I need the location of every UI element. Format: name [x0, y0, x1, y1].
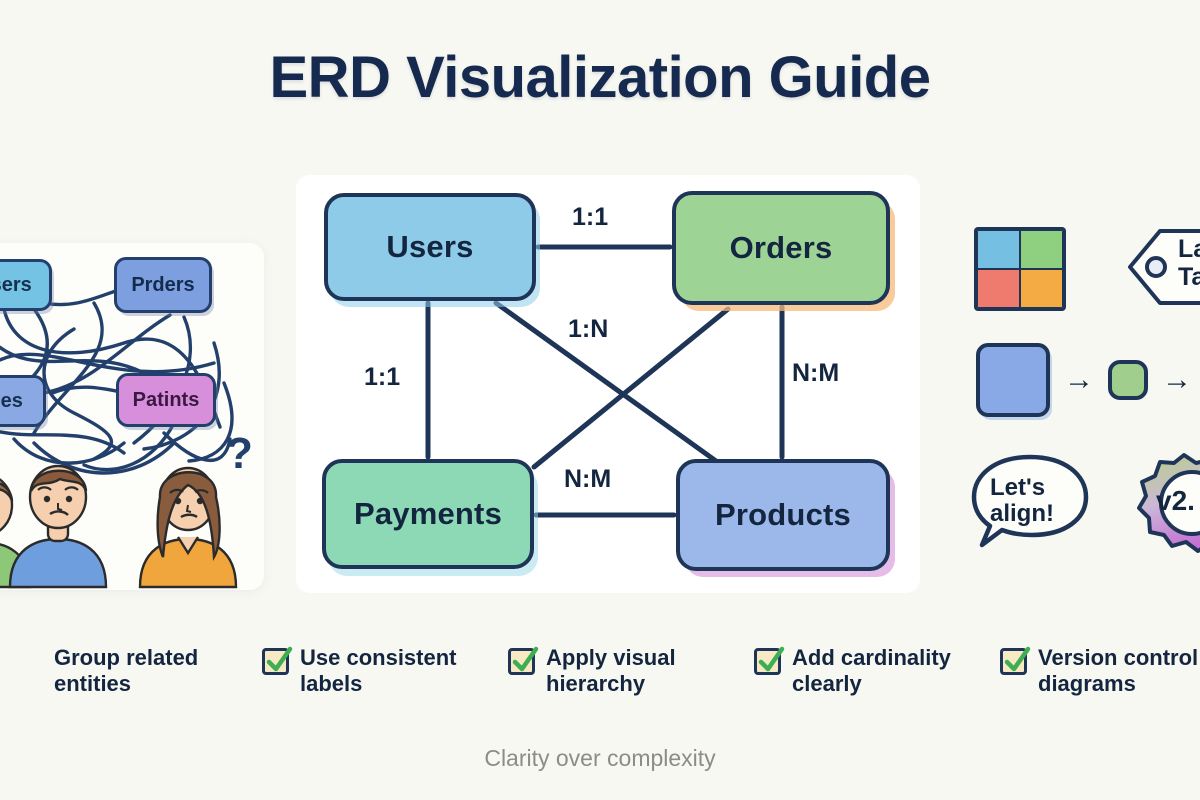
speech-bubble-line2: align! [990, 501, 1054, 526]
tag-label-line2: Tag [1178, 265, 1200, 291]
messy-diagram-panel: Users Prders Uses Patints ? [0, 243, 264, 590]
messy-entity-patints[interactable]: Patints [116, 373, 216, 427]
checklist-item-apply-visual-hierarchy[interactable]: Apply visual hierarchy [508, 645, 754, 698]
cardinality-label-users-products: 1:N [568, 315, 608, 344]
tag-label-line1: Lab [1178, 237, 1200, 263]
hierarchy-medium-node[interactable] [1108, 360, 1148, 400]
speech-bubble-line1: Let's [990, 475, 1045, 500]
checklist-label-3: Apply visual hierarchy [546, 645, 746, 698]
cardinality-label-users-orders: 1:1 [572, 203, 608, 232]
visual-hierarchy-row: → → [976, 337, 1200, 423]
version-badge[interactable]: v2. [1124, 453, 1200, 553]
entity-payments[interactable]: Payments [322, 459, 534, 569]
question-mark-icon: ? [226, 429, 253, 479]
checkbox-icon-3[interactable] [508, 648, 535, 675]
checkbox-icon-2[interactable] [262, 648, 289, 675]
entity-products[interactable]: Products [676, 459, 890, 571]
version-badge-label: v2. [1156, 485, 1195, 517]
checklist-item-use-consistent-labels[interactable]: Use consistent labels [262, 645, 508, 698]
speech-bubble[interactable]: Let's align! [970, 453, 1090, 549]
label-tag[interactable]: Lab Tag [1126, 225, 1200, 309]
entity-users[interactable]: Users [324, 193, 536, 301]
arrow-right-icon-2: → [1162, 365, 1192, 395]
confused-people-illustration [0, 457, 264, 587]
messy-entity-uses[interactable]: Uses [0, 375, 46, 427]
checklist-item-group-related-entities[interactable]: Group related entities [16, 645, 262, 698]
check-mark-icon-3 [507, 644, 541, 678]
arrow-right-icon: → [1064, 365, 1094, 395]
checklist-label-2: Use consistent labels [300, 645, 500, 698]
tips-legend-panel: Lab Tag → → Let's align! [956, 215, 1200, 595]
page-title: ERD Visualization Guide [0, 44, 1200, 111]
messy-entity-prders[interactable]: Prders [114, 257, 212, 313]
swatch-green-icon [1020, 230, 1063, 269]
swatch-red-icon [977, 269, 1020, 308]
footer-tagline: Clarity over complexity [0, 745, 1200, 772]
checkbox-icon-4[interactable] [754, 648, 781, 675]
hierarchy-large-node[interactable] [976, 343, 1050, 417]
entity-orders[interactable]: Orders [672, 191, 890, 305]
edge-payments-orders [534, 309, 728, 467]
cardinality-label-orders-products: N:M [792, 359, 839, 388]
checklist-label-4: Add cardinality clearly [792, 645, 992, 698]
best-practices-checklist: Group related entities Use consistent la… [0, 645, 1200, 731]
poster-canvas: ERD Visualization Guide [0, 0, 1200, 800]
color-palette-grid[interactable] [974, 227, 1066, 311]
check-mark-icon-2 [261, 644, 295, 678]
swatch-orange-icon [1020, 269, 1063, 308]
cardinality-label-payments-products: N:M [564, 465, 611, 494]
checkbox-icon-5[interactable] [1000, 648, 1027, 675]
checklist-item-add-cardinality-clearly[interactable]: Add cardinality clearly [754, 645, 1000, 698]
check-mark-icon-5 [999, 644, 1033, 678]
cardinality-label-users-payments: 1:1 [364, 363, 400, 392]
swatch-blue-icon [977, 230, 1020, 269]
checklist-item-version-control-diagrams[interactable]: Version control diagrams [1000, 645, 1200, 698]
checklist-label-1: Group related entities [54, 645, 254, 698]
checklist-label-5: Version control diagrams [1038, 645, 1200, 698]
erd-diagram-panel: Users Orders Payments Products 1:1 1:N 1… [296, 175, 920, 593]
messy-entity-users[interactable]: Users [0, 259, 52, 311]
check-mark-icon-4 [753, 644, 787, 678]
